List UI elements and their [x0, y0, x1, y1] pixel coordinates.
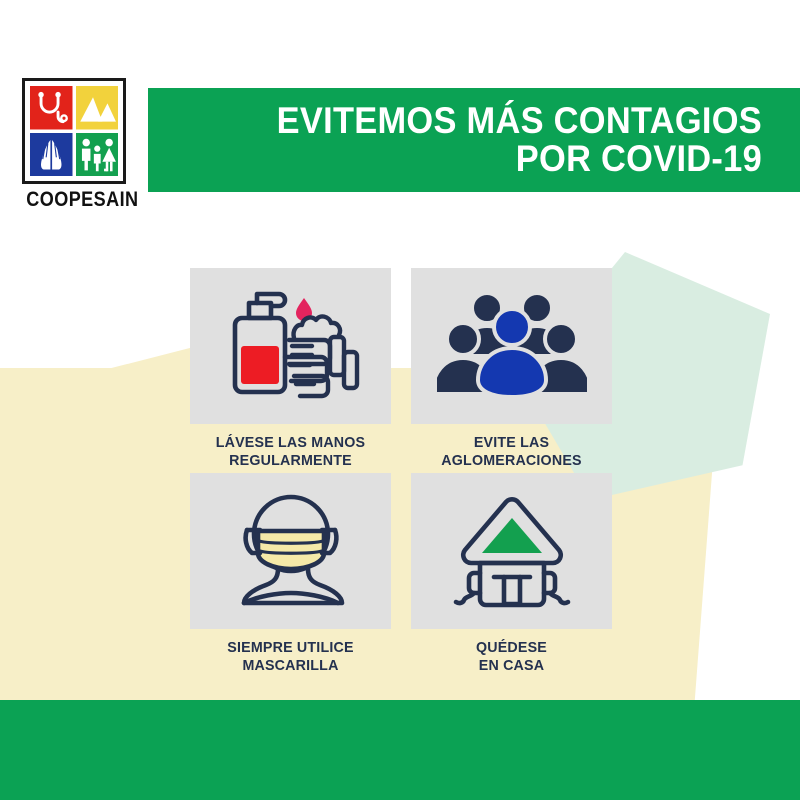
footer-banner [0, 700, 800, 800]
advice-card: SIEMPRE UTILICE MASCARILLA [190, 473, 391, 675]
card-thumbnail [411, 473, 612, 629]
caption-line-2: MASCARILLA [195, 657, 386, 675]
title-line-1: EVITEMOS MÁS CONTAGIOS [223, 102, 762, 140]
logo-cell-praying-hands-icon [30, 133, 73, 177]
card-caption: EVITE LAS AGLOMERACIONES [416, 434, 607, 470]
advice-card: EVITE LAS AGLOMERACIONES [411, 268, 612, 470]
crowd-of-people-icon [437, 284, 587, 408]
caption-line-1: EVITE LAS [416, 434, 607, 452]
caption-line-1: SIEMPRE UTILICE [195, 639, 386, 657]
logo-cell-family-icon [76, 133, 119, 177]
house-stay-home-icon [437, 489, 587, 613]
caption-line-1: QUÉDESE [416, 639, 607, 657]
logo-grid [30, 86, 118, 176]
poster-canvas: COOPESAIN EVITEMOS MÁS CONTAGIOS POR COV… [0, 0, 800, 800]
card-caption: QUÉDESE EN CASA [416, 639, 607, 675]
logo-mark [22, 78, 126, 184]
caption-line-2: AGLOMERACIONES [416, 452, 607, 470]
page-title: EVITEMOS MÁS CONTAGIOS POR COVID-19 [223, 102, 762, 178]
logo-cell-mountains-icon [76, 86, 119, 130]
coopesain-logo: COOPESAIN [22, 78, 130, 223]
soap-dispenser-washing-hands-icon [216, 284, 366, 408]
caption-line-2: EN CASA [416, 657, 607, 675]
caption-line-2: REGULARMENTE [195, 452, 386, 470]
card-thumbnail [190, 268, 391, 424]
logo-cell-stethoscope-icon [30, 86, 73, 130]
advice-card: QUÉDESE EN CASA [411, 473, 612, 675]
title-line-2: POR COVID-19 [223, 140, 762, 178]
card-caption: SIEMPRE UTILICE MASCARILLA [195, 639, 386, 675]
face-mask-icon [216, 489, 366, 613]
card-caption: LÁVESE LAS MANOS REGULARMENTE [195, 434, 386, 470]
brand-name: COOPESAIN [26, 188, 127, 212]
advice-card: LÁVESE LAS MANOS REGULARMENTE [190, 268, 391, 470]
header-banner: EVITEMOS MÁS CONTAGIOS POR COVID-19 [148, 88, 800, 192]
card-thumbnail [190, 473, 391, 629]
card-thumbnail [411, 268, 612, 424]
caption-line-1: LÁVESE LAS MANOS [195, 434, 386, 452]
